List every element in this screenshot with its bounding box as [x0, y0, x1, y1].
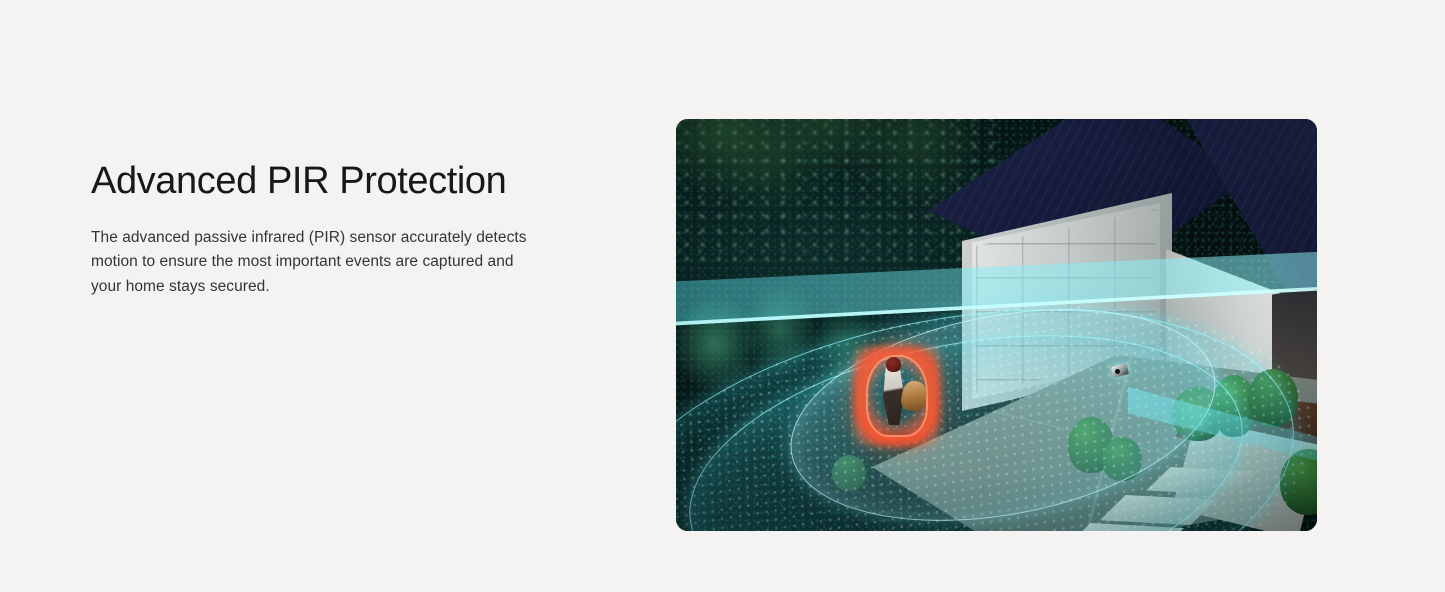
feature-description: The advanced passive infrared (PIR) sens… — [91, 226, 541, 299]
feature-text-column: Advanced PIR Protection The advanced pas… — [91, 160, 611, 299]
pir-scene-image — [676, 119, 1317, 531]
pir-feature-section: Advanced PIR Protection The advanced pas… — [0, 0, 1445, 592]
page-title: Advanced PIR Protection — [91, 160, 611, 204]
scene-vignette — [676, 119, 1317, 531]
